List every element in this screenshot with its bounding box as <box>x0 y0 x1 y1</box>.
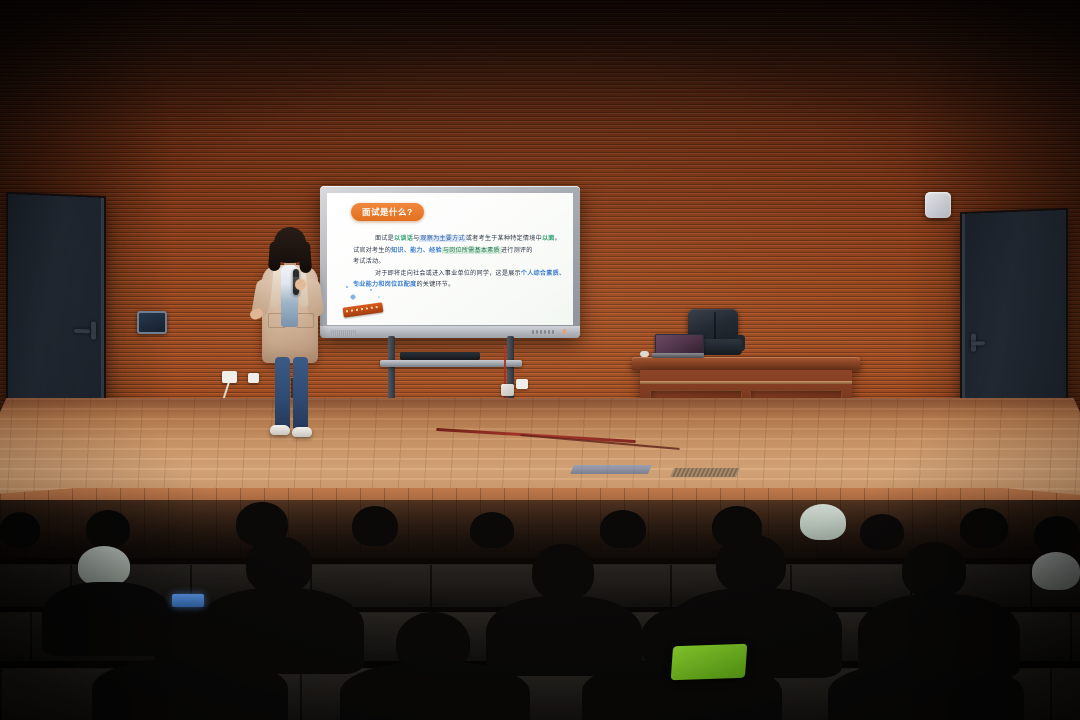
slide-title-badge: 面试是什么? <box>351 203 424 221</box>
laptop[interactable] <box>652 334 704 358</box>
right-leg <box>293 357 308 429</box>
display-panel: 面试是什么? 面试是以谈话与观察为主要方式或者考生于某种特定情境中以面。 试官对… <box>327 193 573 325</box>
hair <box>298 241 312 274</box>
light-cap-icon <box>1032 552 1080 590</box>
left-leg <box>275 357 290 429</box>
sparkle-icon <box>339 281 387 305</box>
desk-top <box>632 357 860 370</box>
display-button-row[interactable] <box>532 330 554 334</box>
phone-screen-glow <box>172 594 204 607</box>
light-cap-icon <box>78 546 130 586</box>
desk-trim <box>640 381 852 384</box>
audience-head <box>86 510 130 548</box>
floor-vent-icon <box>670 468 740 477</box>
audience-head <box>532 544 594 600</box>
audience-head <box>902 542 966 598</box>
laptop-base <box>652 353 704 358</box>
floor-vent-icon <box>570 465 652 474</box>
cart-shelf-item <box>400 352 480 360</box>
audience-head <box>470 512 514 548</box>
right-shoe <box>292 427 312 437</box>
lecture-hall-photo: 面试是什么? 面试是以谈话与观察为主要方式或者考生于某种特定情境中以面。 试官对… <box>0 0 1080 720</box>
coat-pocket <box>296 313 314 328</box>
audience-head <box>0 512 40 548</box>
slide-line: 考试活动。 <box>353 256 555 268</box>
slide-content: 面试是什么? 面试是以谈话与观察为主要方式或者考生于某种特定情境中以面。 试官对… <box>327 193 573 325</box>
audience-shoulders <box>486 596 642 676</box>
door-handle-left-bar[interactable] <box>74 329 90 334</box>
slide-line: 面试是以谈话与观察为主要方式或者考生于某种特定情境中以面。 <box>353 233 555 245</box>
door-handle-left[interactable] <box>91 321 96 339</box>
audience-head <box>960 508 1008 548</box>
cart-power-plug <box>501 384 514 396</box>
mouse-icon[interactable] <box>640 351 649 357</box>
cart-shelf <box>380 360 522 367</box>
av-control-panel-icon[interactable] <box>137 311 167 334</box>
power-led-icon <box>563 329 566 334</box>
right-hand <box>295 279 306 290</box>
audience-head <box>246 536 312 594</box>
light-cap-icon <box>800 504 846 540</box>
left-shoe <box>270 425 290 435</box>
chair-seam <box>714 312 716 340</box>
door-handle-right-bar[interactable] <box>971 341 985 346</box>
green-bag <box>671 644 748 681</box>
audience-head <box>1034 516 1080 554</box>
slide-decoration-icon <box>333 279 397 319</box>
audience-head <box>716 534 786 594</box>
wall-speaker-box <box>925 192 951 218</box>
audience-area <box>0 500 1080 720</box>
audience-head <box>860 514 904 550</box>
audience-head <box>600 510 646 548</box>
hair <box>268 241 282 272</box>
audience-shoulders <box>828 662 1024 720</box>
slide-line: 对于即将走向社会或进入事业单位的同学，这是展示个人综合素质、 <box>353 268 555 280</box>
audience-shoulders <box>340 662 530 720</box>
speaker-grille-icon <box>330 330 356 336</box>
presentation-display[interactable]: 面试是什么? 面试是以谈话与观察为主要方式或者考生于某种特定情境中以面。 试官对… <box>320 186 580 338</box>
slide-line: 试官对考生的知识、能力、经验与岗位所需基本素质进行测评的 <box>353 245 555 257</box>
laptop-screen <box>655 334 704 355</box>
audience-head <box>352 506 398 546</box>
audience-shoulders <box>92 658 288 720</box>
